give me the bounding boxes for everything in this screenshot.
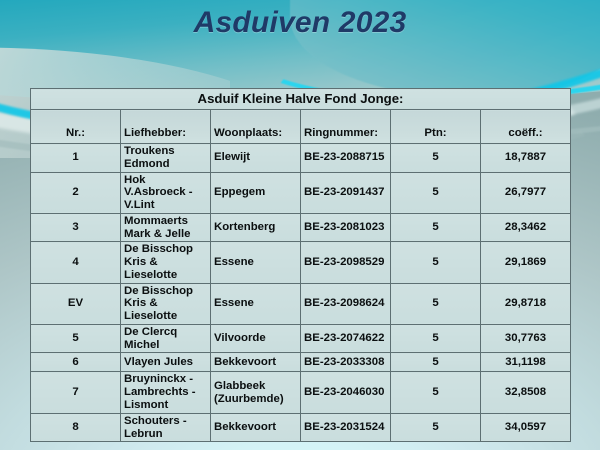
cell-ring: BE-23-2091437 <box>301 172 391 213</box>
cell-woon: Bekkevoort <box>211 353 301 372</box>
cell-ring: BE-23-2033308 <box>301 353 391 372</box>
cell-ptn: 5 <box>391 172 481 213</box>
cell-coeff: 26,7977 <box>481 172 571 213</box>
cell-coeff: 29,1869 <box>481 242 571 283</box>
cell-woon: Essene <box>211 283 301 324</box>
cell-woon: Kortenberg <box>211 213 301 242</box>
cell-nr: 1 <box>31 144 121 173</box>
cell-ptn: 5 <box>391 144 481 173</box>
column-header-nr: Nr.: <box>31 110 121 144</box>
cell-ptn: 5 <box>391 413 481 442</box>
cell-woon: Bekkevoort <box>211 413 301 442</box>
cell-lief: Mommaerts Mark & Jelle <box>121 213 211 242</box>
cell-nr: 5 <box>31 324 121 353</box>
cell-nr: 6 <box>31 353 121 372</box>
cell-lief: De Bisschop Kris & Lieselotte <box>121 283 211 324</box>
cell-ptn: 5 <box>391 213 481 242</box>
cell-ptn: 5 <box>391 324 481 353</box>
slide-canvas: Asduiven 2023 Asduif Kleine Halve Fond J… <box>0 0 600 450</box>
cell-coeff: 32,8508 <box>481 372 571 413</box>
cell-woon: Essene <box>211 242 301 283</box>
table-row: 4 De Bisschop Kris & Lieselotte Essene B… <box>31 242 571 283</box>
table-row: EV De Bisschop Kris & Lieselotte Essene … <box>31 283 571 324</box>
column-header-ring: Ringnummer: <box>301 110 391 144</box>
cell-nr: 4 <box>31 242 121 283</box>
cell-lief: De Bisschop Kris & Lieselotte <box>121 242 211 283</box>
cell-lief: De Clercq Michel <box>121 324 211 353</box>
cell-coeff: 18,7887 <box>481 144 571 173</box>
cell-nr: EV <box>31 283 121 324</box>
column-header-coeff: coëff.: <box>481 110 571 144</box>
table-row: 7 Bruyninckx - Lambrechts - Lismont Glab… <box>31 372 571 413</box>
cell-nr: 3 <box>31 213 121 242</box>
cell-woon: Elewijt <box>211 144 301 173</box>
table-row: 6 Vlayen Jules Bekkevoort BE-23-2033308 … <box>31 353 571 372</box>
cell-lief: Hok V.Asbroeck - V.Lint <box>121 172 211 213</box>
table-header-row: Nr.: Liefhebber: Woonplaats: Ringnummer:… <box>31 110 571 144</box>
cell-ptn: 5 <box>391 242 481 283</box>
cell-ring: BE-23-2088715 <box>301 144 391 173</box>
cell-ring: BE-23-2046030 <box>301 372 391 413</box>
column-header-woon: Woonplaats: <box>211 110 301 144</box>
cell-coeff: 29,8718 <box>481 283 571 324</box>
cell-woon: Glabbeek (Zuurbemde) <box>211 372 301 413</box>
cell-lief: Bruyninckx - Lambrechts - Lismont <box>121 372 211 413</box>
cell-ptn: 5 <box>391 372 481 413</box>
cell-ring: BE-23-2031524 <box>301 413 391 442</box>
slide-title: Asduiven 2023 <box>0 6 600 40</box>
table-banner-cell: Asduif Kleine Halve Fond Jonge: <box>31 89 571 110</box>
cell-ring: BE-23-2074622 <box>301 324 391 353</box>
table-row: 3 Mommaerts Mark & Jelle Kortenberg BE-2… <box>31 213 571 242</box>
cell-woon: Eppegem <box>211 172 301 213</box>
cell-lief: Troukens Edmond <box>121 144 211 173</box>
table-row: 1 Troukens Edmond Elewijt BE-23-2088715 … <box>31 144 571 173</box>
table-row: 2 Hok V.Asbroeck - V.Lint Eppegem BE-23-… <box>31 172 571 213</box>
cell-ptn: 5 <box>391 353 481 372</box>
cell-ptn: 5 <box>391 283 481 324</box>
cell-nr: 8 <box>31 413 121 442</box>
cell-lief: Schouters - Lebrun <box>121 413 211 442</box>
table-banner-row: Asduif Kleine Halve Fond Jonge: <box>31 89 571 110</box>
cell-ring: BE-23-2098624 <box>301 283 391 324</box>
cell-ring: BE-23-2081023 <box>301 213 391 242</box>
cell-woon: Vilvoorde <box>211 324 301 353</box>
cell-coeff: 31,1198 <box>481 353 571 372</box>
cell-coeff: 34,0597 <box>481 413 571 442</box>
cell-nr: 7 <box>31 372 121 413</box>
cell-nr: 2 <box>31 172 121 213</box>
results-table-container: Asduif Kleine Halve Fond Jonge: Nr.: Lie… <box>30 88 571 442</box>
table-row: 8 Schouters - Lebrun Bekkevoort BE-23-20… <box>31 413 571 442</box>
results-table: Asduif Kleine Halve Fond Jonge: Nr.: Lie… <box>30 88 571 442</box>
cell-coeff: 30,7763 <box>481 324 571 353</box>
column-header-ptn: Ptn: <box>391 110 481 144</box>
table-row: 5 De Clercq Michel Vilvoorde BE-23-20746… <box>31 324 571 353</box>
cell-ring: BE-23-2098529 <box>301 242 391 283</box>
column-header-lief: Liefhebber: <box>121 110 211 144</box>
cell-lief: Vlayen Jules <box>121 353 211 372</box>
cell-coeff: 28,3462 <box>481 213 571 242</box>
